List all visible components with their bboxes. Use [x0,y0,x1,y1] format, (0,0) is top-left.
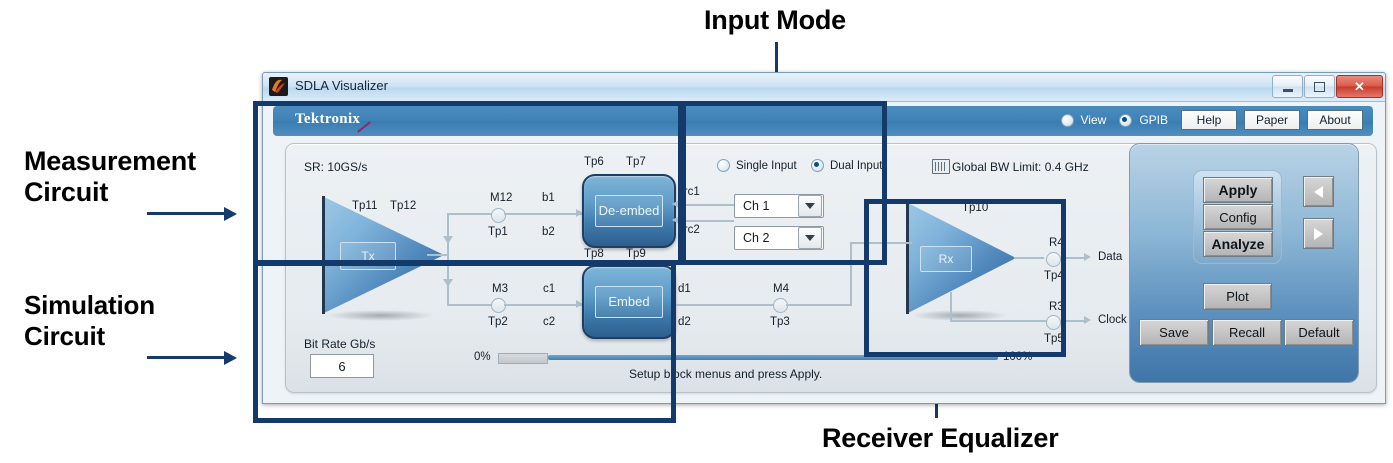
annotation-measurement-arrow-line [147,212,225,215]
label-c1: c1 [543,283,555,295]
testpoint-tp5-circle[interactable] [1046,315,1061,330]
progress-track [548,355,998,360]
annotation-simulation-circuit: Simulation Circuit [24,290,155,352]
progress-bar-fill [499,354,547,363]
channel2-value: Ch 2 [735,231,798,245]
rx-label: Rx [920,246,972,272]
minimize-button[interactable] [1272,75,1303,98]
wire-riser-to-rx [850,242,852,306]
label-tp1: Tp1 [488,226,508,238]
label-tp7: Tp7 [626,156,646,168]
bit-rate-input[interactable]: 6 [310,354,374,378]
dual-input-label: Dual Input [830,160,882,172]
single-input-radio[interactable] [717,159,730,172]
wire-m4-to-riser [786,304,852,306]
gpib-label: GPIB [1139,113,1168,127]
annotation-simulation-arrow-head [224,351,237,365]
label-d2: d2 [678,316,691,328]
label-tp5: Tp5 [1044,333,1064,345]
channel1-value: Ch 1 [735,199,798,213]
bw-limit-label: Global BW Limit: 0.4 GHz [952,160,1089,174]
deembed-block[interactable]: De-embed [582,174,676,248]
label-tp12: Tp12 [390,200,416,212]
wire-tx-to-split-top [427,254,449,256]
annotation-measurement-circuit: Measurement Circuit [24,146,196,208]
label-tp11: Tp11 [352,200,377,212]
wire-arrow-down-lower [443,279,453,287]
tx-left-edge [322,196,325,314]
triangle-right-icon [1314,228,1323,240]
label-d1: d1 [678,283,691,295]
window-buttons: ✕ [1271,75,1383,97]
wire-riser-into-rx [850,242,912,244]
wire-rx-out-data [1014,257,1044,259]
previous-button[interactable] [1303,176,1334,207]
next-button[interactable] [1303,218,1334,249]
embed-label: Embed [595,286,664,317]
label-src1: src1 [678,186,700,198]
channel1-dropdown[interactable]: Ch 1 [734,194,824,218]
about-button[interactable]: About [1307,110,1363,130]
single-input-option[interactable]: Single Input [717,159,797,172]
label-clock-output: Clock [1098,314,1127,326]
status-message: Setup block menus and press Apply. [629,367,822,381]
progress-max-label: 100% [1003,351,1032,363]
maximize-icon [1314,82,1325,92]
deembed-label: De-embed [595,195,664,226]
paper-button[interactable]: Paper [1244,110,1300,130]
wire-embed-to-m4 [674,304,774,306]
apply-button[interactable]: Apply [1203,177,1273,203]
save-button[interactable]: Save [1139,319,1209,346]
analyze-button[interactable]: Analyze [1203,231,1273,257]
rx-amplifier[interactable]: Rx [906,202,1016,314]
close-icon: ✕ [1354,79,1365,95]
tx-shadow [328,310,433,321]
label-c2: c2 [543,316,555,328]
tx-label: Tx [340,242,396,270]
brand-header-bar: Tektronix View GPIB Help Paper About [273,106,1373,136]
plot-button[interactable]: Plot [1203,283,1272,310]
wire-arrow-data-out [1084,253,1091,261]
label-tp6: Tp6 [584,156,604,168]
wire-rx-clock-horizontal [950,320,1048,322]
bw-limit-icon[interactable] [932,159,950,174]
wire-split-vertical-up [447,214,449,256]
label-tp2: Tp2 [488,316,508,328]
label-data-output: Data [1098,251,1122,263]
tektronix-logo: Tektronix [295,111,360,128]
window-title: SDLA Visualizer [295,78,388,93]
label-r3: R3 [1049,301,1064,313]
annotation-measurement-arrow-head [224,207,237,221]
sample-rate-label: SR: 10GS/s [304,160,367,174]
label-m4: M4 [773,283,789,295]
control-panel: Apply Config Analyze Plot Save Recall De… [1129,143,1359,383]
tx-amplifier[interactable]: Tx [322,196,444,314]
annotation-input-mode: Input Mode [704,5,846,36]
wire-rx-clock-vertical [950,292,952,322]
maximize-button[interactable] [1304,75,1335,98]
label-tp3: Tp3 [770,316,790,328]
label-b2: b2 [542,226,555,238]
rx-left-edge [906,202,909,314]
label-b1: b1 [542,192,555,204]
testpoint-tp4-circle[interactable] [1046,252,1061,267]
label-m12: M12 [490,192,512,204]
testpoint-tp1-circle[interactable] [491,208,506,223]
bit-rate-label: Bit Rate Gb/s [304,337,375,351]
label-tp9: Tp9 [626,248,646,260]
single-input-label: Single Input [736,160,797,172]
wire-m3-to-embed [504,304,582,306]
label-tp4: Tp4 [1044,270,1064,282]
label-r4: R4 [1049,237,1064,249]
window-title-bar[interactable]: SDLA Visualizer ✕ [263,73,1385,102]
recall-button[interactable]: Recall [1212,319,1282,346]
label-tp10: Tp10 [962,202,988,214]
channel2-dropdown[interactable]: Ch 2 [734,226,824,250]
minimize-icon [1283,89,1293,92]
config-button[interactable]: Config [1203,204,1273,230]
wire-src1-in [680,204,734,206]
help-button[interactable]: Help [1181,110,1237,130]
label-tp8: Tp8 [584,248,604,260]
app-icon [269,77,288,96]
wire-arrow-clock-out [1084,316,1091,324]
apply-config-analyze-group: Apply Config Analyze [1193,170,1282,264]
dual-input-radio[interactable] [811,159,824,172]
wire-src2-in [680,220,734,222]
wire-arrow-down-upper [443,236,453,244]
progress-bar [498,353,548,364]
view-radio[interactable] [1061,114,1074,127]
progress-min-label: 0% [474,351,491,363]
dual-input-option[interactable]: Dual Input [811,159,882,172]
channel1-chevron-down-icon[interactable] [798,195,822,217]
wire-arrow-src2 [672,216,679,224]
sdla-visualizer-window: SDLA Visualizer ✕ Tektronix View GPIB He… [262,72,1386,404]
header-controls: View GPIB Help Paper About [1061,110,1363,130]
view-label: View [1081,113,1107,127]
label-src2: src2 [678,224,700,236]
channel2-chevron-down-icon[interactable] [798,227,822,249]
annotation-receiver-equalizer: Receiver Equalizer [822,423,1059,454]
embed-block[interactable]: Embed [582,265,676,339]
wire-m12-to-deembed [504,213,582,215]
default-button[interactable]: Default [1284,319,1354,346]
wire-arrow-src1 [672,200,679,208]
label-m3: M3 [492,283,508,295]
close-button[interactable]: ✕ [1336,75,1383,98]
gpib-radio[interactable] [1119,114,1132,127]
annotation-simulation-arrow-line [147,356,225,359]
triangle-left-icon [1314,186,1323,198]
